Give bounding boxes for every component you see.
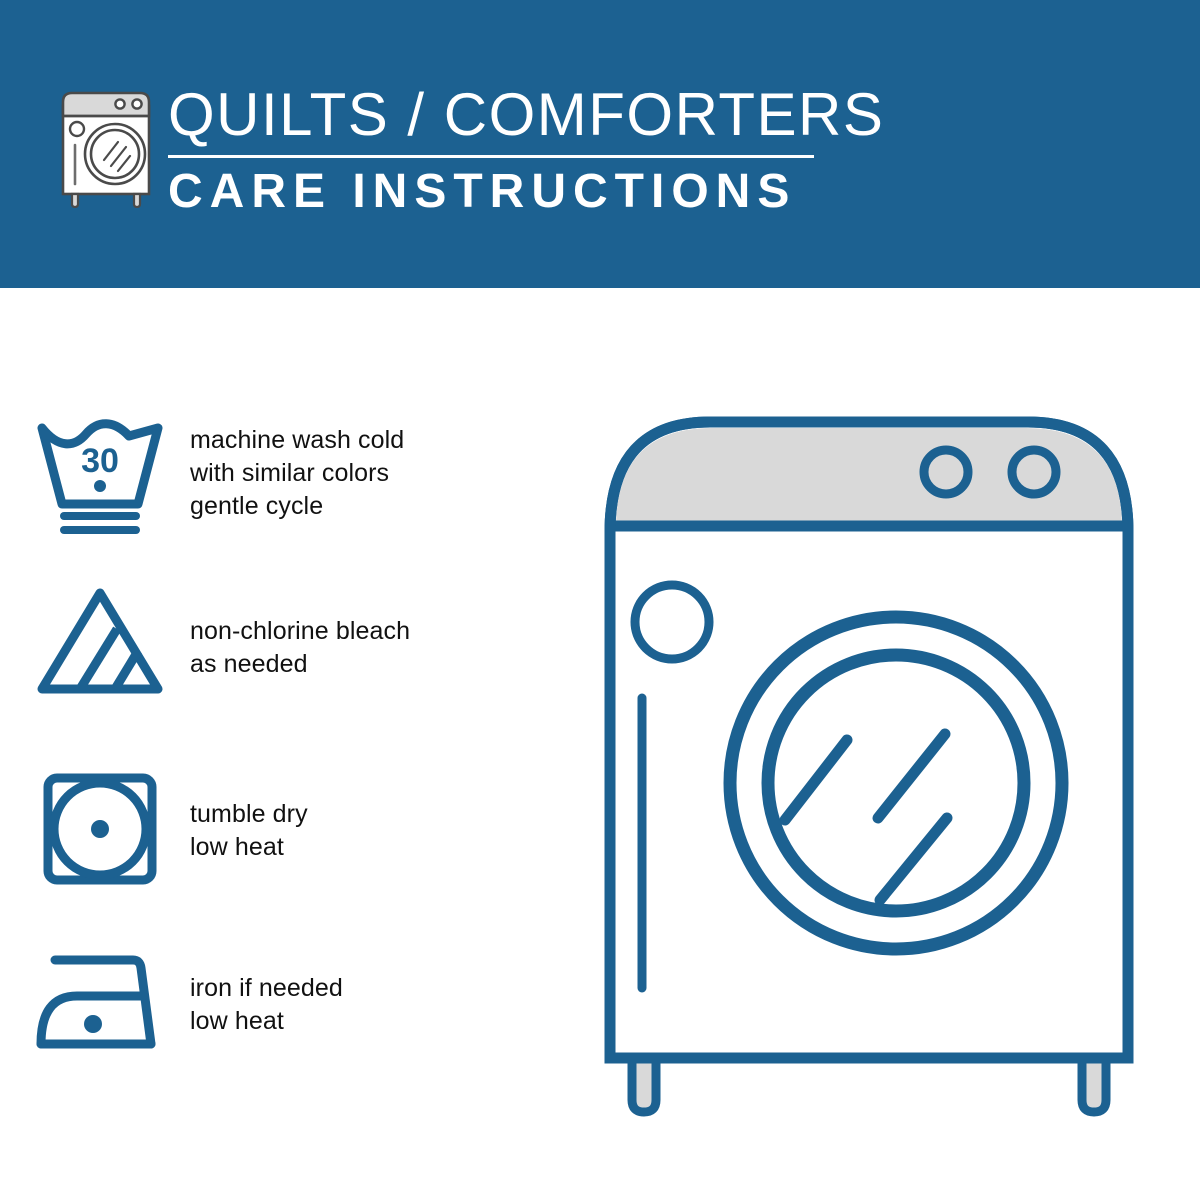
title-divider	[168, 155, 814, 158]
tumble-dry-low-heat-icon	[0, 772, 190, 886]
triangle-non-chlorine-bleach-icon	[0, 585, 190, 695]
caption-line: non-chlorine bleach	[190, 615, 560, 648]
care-symbol-caption-iron: iron if needed low heat	[190, 948, 560, 1038]
care-symbol-row-bleach: non-chlorine bleach as needed	[0, 585, 560, 695]
caption-line: iron if needed	[190, 972, 560, 1005]
page-header: QUILTS / COMFORTERS CARE INSTRUCTIONS	[0, 0, 1200, 288]
caption-line: with similar colors	[190, 457, 560, 490]
page-title-primary: QUILTS / COMFORTERS	[168, 82, 828, 148]
wash-basin-30-gentle-icon: 30	[0, 418, 190, 536]
care-symbol-caption-bleach: non-chlorine bleach as needed	[190, 585, 560, 681]
caption-line: low heat	[190, 831, 560, 864]
washing-machine-icon	[54, 84, 158, 208]
care-instructions-page: QUILTS / COMFORTERS CARE INSTRUCTIONS 30	[0, 0, 1200, 1200]
wash-temperature-value: 30	[81, 442, 119, 480]
care-symbol-row-iron: iron if needed low heat	[0, 948, 560, 1054]
caption-line: low heat	[190, 1005, 560, 1038]
iron-low-heat-icon	[0, 948, 190, 1054]
page-title-secondary: CARE INSTRUCTIONS	[168, 164, 828, 220]
caption-line: as needed	[190, 648, 560, 681]
caption-line: machine wash cold	[190, 424, 560, 457]
care-symbol-caption-wash: machine wash cold with similar colors ge…	[190, 418, 560, 523]
care-symbol-caption-tumble-dry: tumble dry low heat	[190, 772, 560, 864]
caption-line: tumble dry	[190, 798, 560, 831]
care-symbol-row-tumble-dry: tumble dry low heat	[0, 772, 560, 886]
header-title-block: QUILTS / COMFORTERS CARE INSTRUCTIONS	[168, 82, 828, 220]
care-symbol-row-wash: 30 machine wash cold with similar colors…	[0, 418, 560, 536]
front-load-washing-machine-illustration	[600, 400, 1170, 1120]
caption-line: gentle cycle	[190, 490, 560, 523]
